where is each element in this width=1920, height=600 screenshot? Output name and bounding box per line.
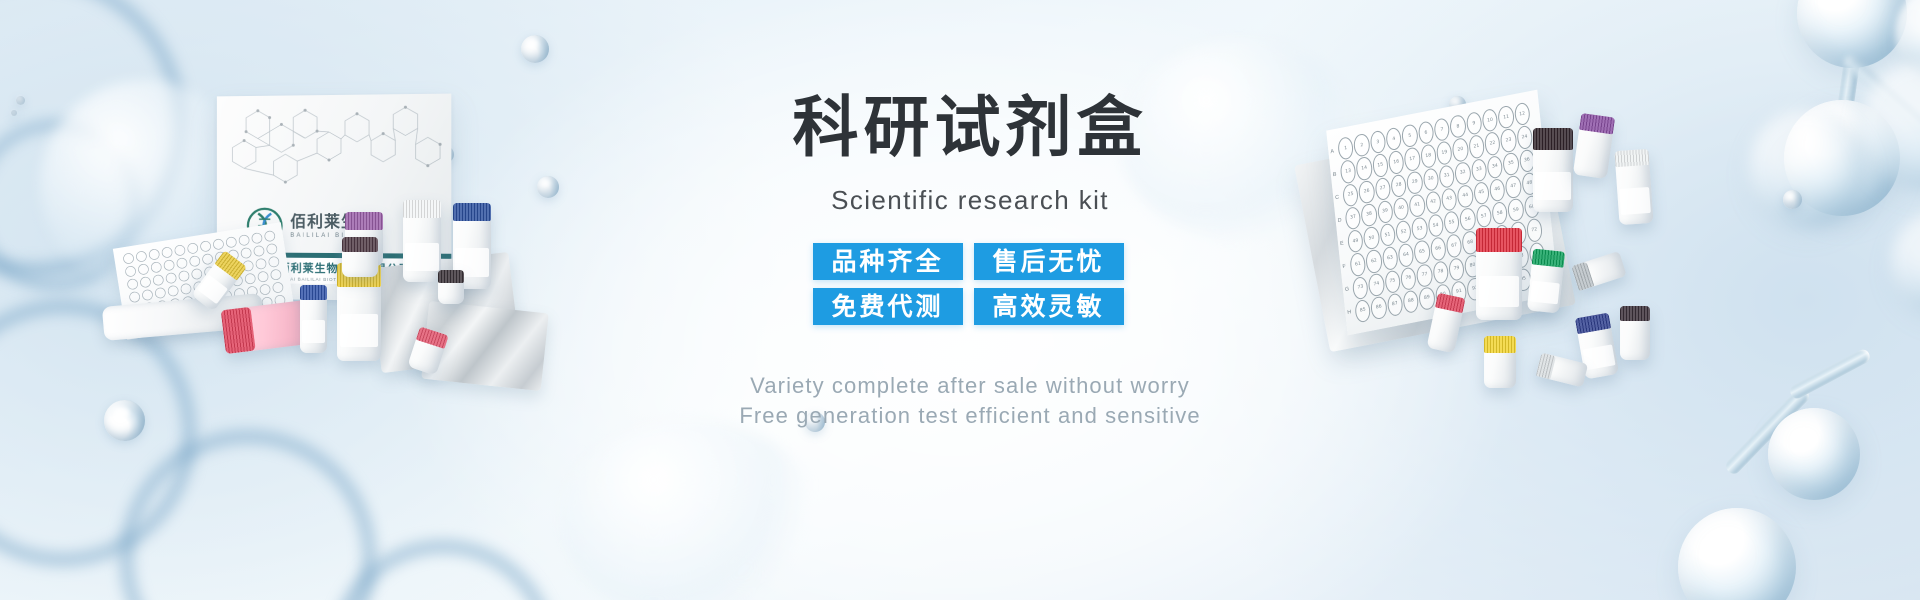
plate-well: 18 (1420, 143, 1437, 168)
plate-well: 58 (1491, 201, 1508, 226)
plate-well: 86 (1370, 295, 1387, 320)
plate-well: 30 (1422, 167, 1439, 192)
plate-well: 1 (1337, 136, 1354, 161)
plate-well: 26 (1358, 179, 1375, 204)
bubble-outline-icon (330, 540, 556, 600)
plate-well: 42 (1425, 190, 1442, 215)
plate-well: 53 (1411, 216, 1428, 241)
vial-cap (438, 270, 464, 283)
plate-well: 51 (1379, 222, 1396, 247)
vial-red-cap-large (1476, 228, 1522, 320)
vial-pink-liquid (221, 300, 312, 354)
plate-well: 76 (1400, 266, 1417, 291)
plate-well: 44 (1457, 184, 1474, 209)
plate-well: 23 (1500, 128, 1517, 153)
feature-badge-1[interactable]: 品种齐全 (813, 243, 963, 280)
plate-well: 20 (1452, 137, 1469, 162)
plate-well: 13 (1340, 159, 1357, 184)
plate-well: 34 (1486, 154, 1503, 179)
plate-well: 78 (1432, 260, 1449, 285)
vial-silver-cap (1571, 251, 1627, 291)
plate-well: 9 (1465, 111, 1482, 136)
vial-white-cap-tall (403, 200, 441, 282)
vial-black-cap (342, 237, 378, 277)
page-subtitle: Scientific research kit (660, 185, 1280, 216)
feature-badge-3[interactable]: 免费代测 (813, 288, 963, 325)
plate-well: 57 (1475, 204, 1492, 229)
vial-dark-cap-small (1620, 306, 1650, 360)
molecule-sphere (1784, 100, 1900, 216)
molecule-sphere (1890, 210, 1920, 315)
water-droplet-icon (521, 35, 549, 63)
vial-cap (345, 212, 383, 230)
vial-label (1530, 281, 1560, 305)
plate-well: 4 (1385, 126, 1402, 151)
vial-cap (453, 203, 491, 221)
plate-well: 33 (1470, 157, 1487, 182)
plate-well: 61 (1349, 252, 1366, 277)
plate-well: 52 (1395, 219, 1412, 244)
vial-label (405, 243, 438, 271)
molecule-bond (1837, 21, 1866, 114)
vial-black-cap-small (438, 270, 464, 304)
water-droplet-icon (1783, 190, 1802, 209)
plate-well: 41 (1409, 193, 1426, 218)
plate-well: 3 (1369, 130, 1386, 155)
plate-well: 5 (1401, 123, 1418, 148)
plate-well: 79 (1448, 256, 1465, 281)
molecule-sphere (1748, 108, 1868, 228)
plate-well: 45 (1473, 181, 1490, 206)
plate-well: 63 (1381, 246, 1398, 271)
molecule-sphere (1768, 408, 1860, 500)
plate-well: 8 (1449, 114, 1466, 139)
hexagon-molecule-pattern-icon (217, 98, 451, 212)
vial-label (1619, 187, 1651, 214)
water-droplet-icon (16, 96, 25, 105)
vial-cap (300, 285, 327, 300)
vial-yellow-cap-large (337, 263, 381, 361)
vial-green-cap (1527, 248, 1565, 313)
plate-well: 47 (1505, 174, 1522, 199)
vial-label (302, 320, 326, 343)
plate-well: 37 (1344, 205, 1361, 230)
plate-well: 2 (1353, 133, 1370, 158)
tagline: Variety complete after sale without worr… (660, 371, 1280, 430)
plate-well: 55 (1443, 210, 1460, 235)
vial-cap (1620, 306, 1650, 321)
plate-well: 31 (1438, 164, 1455, 189)
plate-well: 28 (1390, 173, 1407, 198)
plate-well: 43 (1441, 187, 1458, 212)
product-photo-right: ABCDEFGH 1234567891011121314151617181920… (1280, 110, 1750, 410)
molecule-sphere (1797, 0, 1907, 68)
plate-well: 67 (1445, 233, 1462, 258)
molecule-bond (1841, 53, 1920, 137)
plate-well: 15 (1372, 153, 1389, 178)
vial-cap (342, 237, 378, 252)
tagline-line-2: Free generation test efficient and sensi… (660, 401, 1280, 431)
plate-well: 38 (1360, 202, 1377, 227)
plate-well: 21 (1468, 134, 1485, 159)
vial-cap (1575, 313, 1611, 335)
plate-well: 7 (1433, 117, 1450, 142)
vial-cap (1533, 128, 1573, 150)
plate-well: 73 (1352, 275, 1369, 300)
plate-well: 29 (1406, 170, 1423, 195)
plate-well: 39 (1376, 199, 1393, 224)
tagline-line-1: Variety complete after sale without worr… (660, 371, 1280, 401)
plate-well: 25 (1342, 182, 1359, 207)
plate-well: 59 (1507, 198, 1524, 223)
plate-well: 56 (1459, 207, 1476, 232)
vial-cap (1532, 248, 1565, 267)
plate-well: 87 (1386, 292, 1403, 317)
plate-well: 85 (1354, 298, 1371, 323)
plate-well: 11 (1497, 105, 1514, 130)
plate-well: 75 (1384, 269, 1401, 294)
plate-well: 10 (1481, 108, 1498, 133)
vial-cap (1476, 228, 1522, 252)
plate-well: 46 (1489, 177, 1506, 202)
vial-label (340, 314, 379, 347)
vial-cap (221, 307, 256, 354)
plate-well: 32 (1454, 160, 1471, 185)
plate-well: 22 (1484, 131, 1501, 156)
plate-well: 62 (1365, 249, 1382, 274)
vial-dark-cap (1533, 128, 1573, 212)
plate-well: 27 (1374, 176, 1391, 201)
plate-well: 49 (1347, 229, 1364, 254)
molecule-sphere (1678, 508, 1796, 600)
vial-label (1535, 172, 1570, 201)
plate-well: 89 (1418, 286, 1435, 311)
plate-well: 17 (1404, 147, 1421, 172)
feature-badge-group: 品种齐全 售后无忧 免费代测 高效灵敏 (813, 243, 1128, 325)
plate-well: 12 (1513, 102, 1530, 127)
plate-well: 64 (1397, 243, 1414, 268)
promo-banner: 佰利莱生物 BAILILAI BIOLOGY 上海佰利莱生物科技有限公司 SHA… (0, 0, 1920, 600)
water-droplet-icon (11, 110, 17, 116)
vial-label (1479, 276, 1520, 307)
soft-glow-blob (560, 420, 820, 600)
plate-well: 16 (1388, 150, 1405, 175)
plate-well: 54 (1427, 213, 1444, 238)
plate-well: 66 (1429, 236, 1446, 261)
vial-purple-cap (1573, 113, 1615, 179)
vial-white-cap (1614, 149, 1653, 225)
water-droplet-icon (104, 400, 145, 441)
molecule-sphere (1860, 60, 1920, 190)
plate-well: 14 (1356, 156, 1373, 181)
product-photo-left: 佰利莱生物 BAILILAI BIOLOGY 上海佰利莱生物科技有限公司 SHA… (105, 95, 560, 395)
banner-text-block: 科研试剂盒 Scientific research kit 品种齐全 售后无忧 … (660, 95, 1280, 430)
vial-label (1582, 345, 1615, 371)
vial-yellow-cap (1484, 336, 1516, 388)
feature-badge-4[interactable]: 高效灵敏 (974, 288, 1124, 325)
vial-cap (1571, 261, 1594, 291)
vial-white-cap-small (1536, 353, 1588, 388)
plate-well: 40 (1392, 196, 1409, 221)
plate-well: 24 (1516, 125, 1533, 150)
plate-well: 88 (1402, 289, 1419, 314)
feature-badge-2[interactable]: 售后无忧 (974, 243, 1124, 280)
plate-well: 6 (1417, 120, 1434, 145)
plate-well: 65 (1413, 239, 1430, 264)
vial-cap (1579, 113, 1615, 135)
vial-blue-cap (300, 285, 327, 353)
plate-well: 72 (1526, 218, 1543, 243)
molecule-sphere (1895, 0, 1920, 81)
vial-cap (1536, 353, 1556, 380)
plate-well: 74 (1368, 272, 1385, 297)
vial-cap (403, 200, 441, 218)
plate-well: 77 (1416, 263, 1433, 288)
molecule-bond (1788, 347, 1872, 401)
plate-well: 35 (1502, 151, 1519, 176)
plate-well: 50 (1363, 226, 1380, 251)
vial-cap (1614, 149, 1649, 167)
bubble-outline-icon (120, 430, 376, 600)
vial-cap (1484, 336, 1516, 353)
page-title: 科研试剂盒 (660, 95, 1280, 161)
plate-well: 19 (1436, 140, 1453, 165)
